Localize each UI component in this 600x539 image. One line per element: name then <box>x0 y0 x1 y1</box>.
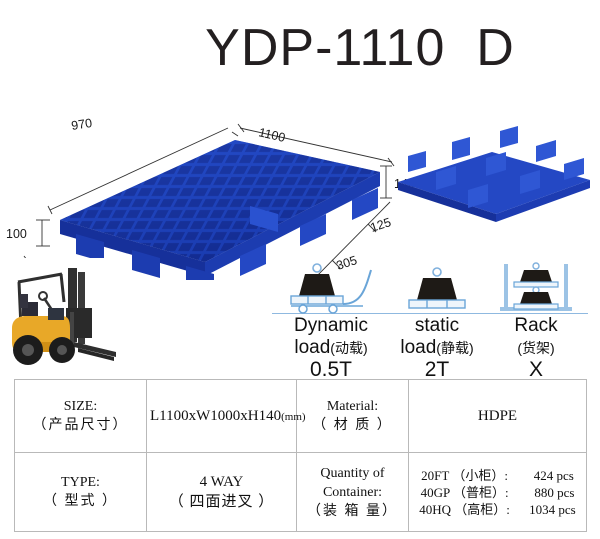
pallet-diagram: 970 1100 100 140 <box>0 110 600 280</box>
load-label-line2: (货架) <box>484 338 588 358</box>
dim-label-r5: 125 <box>369 215 393 235</box>
load-value: 0.5T <box>272 359 390 381</box>
load-label-line2: load(静载) <box>384 338 490 358</box>
dim-label-1100: 1100 <box>257 125 286 145</box>
list-item: 20FT （小柜）: 424 pcs <box>412 467 583 484</box>
page-title: YDP-1110 D <box>0 18 600 78</box>
load-value: 2T <box>384 359 490 381</box>
load-ratings: Dynamic load(动载) 0.5T static load(静载) 2T <box>272 262 600 377</box>
product-spec-sheet: YDP-1110 D <box>0 0 600 539</box>
dim-label-100: 100 <box>6 227 27 241</box>
pallet-ground-icon <box>384 262 490 314</box>
load-rating-dynamic: Dynamic load(动载) 0.5T <box>272 262 390 381</box>
material-value: HDPE <box>409 380 587 453</box>
list-item: 40HQ （高柜）: 1034 pcs <box>412 501 583 518</box>
load-value: X <box>484 359 588 381</box>
dimension-100: 100 <box>6 220 50 246</box>
table-row: TYPE: （ 型式 ） 4 WAY （ 四面进叉 ） Quantity of … <box>15 453 587 532</box>
container-quantities: 20FT （小柜）: 424 pcs 40GP （普柜）: 880 pcs 40… <box>409 453 587 532</box>
container-label: Quantity of Container: （装 箱 量） <box>297 453 409 532</box>
load-rating-rack: Rack (货架) X <box>484 262 588 381</box>
type-value: 4 WAY （ 四面进叉 ） <box>147 453 297 532</box>
size-label: SIZE: （产品尺寸） <box>15 380 147 453</box>
type-label: TYPE: （ 型式 ） <box>15 453 147 532</box>
size-value: L1100xW1000xH140(mm) <box>147 380 297 453</box>
spec-table: SIZE: （产品尺寸） L1100xW1000xH140(mm) Materi… <box>14 379 587 532</box>
load-label-line2: load(动载) <box>272 338 390 358</box>
dim-label-970: 970 <box>70 116 93 133</box>
list-item: 40GP （普柜）: 880 pcs <box>412 484 583 501</box>
table-row: SIZE: （产品尺寸） L1100xW1000xH140(mm) Materi… <box>15 380 587 453</box>
pallet-bottom-view <box>398 126 590 222</box>
forklift-photo <box>4 258 124 376</box>
material-label: Material: （ 材 质 ） <box>297 380 409 453</box>
load-label-line1: static <box>384 316 490 336</box>
load-rating-static: static load(静载) 2T <box>384 262 490 381</box>
pallet-truck-icon <box>272 262 390 314</box>
rack-icon <box>484 262 588 314</box>
load-label-line1: Rack <box>484 316 588 336</box>
load-label-line1: Dynamic <box>272 316 390 336</box>
